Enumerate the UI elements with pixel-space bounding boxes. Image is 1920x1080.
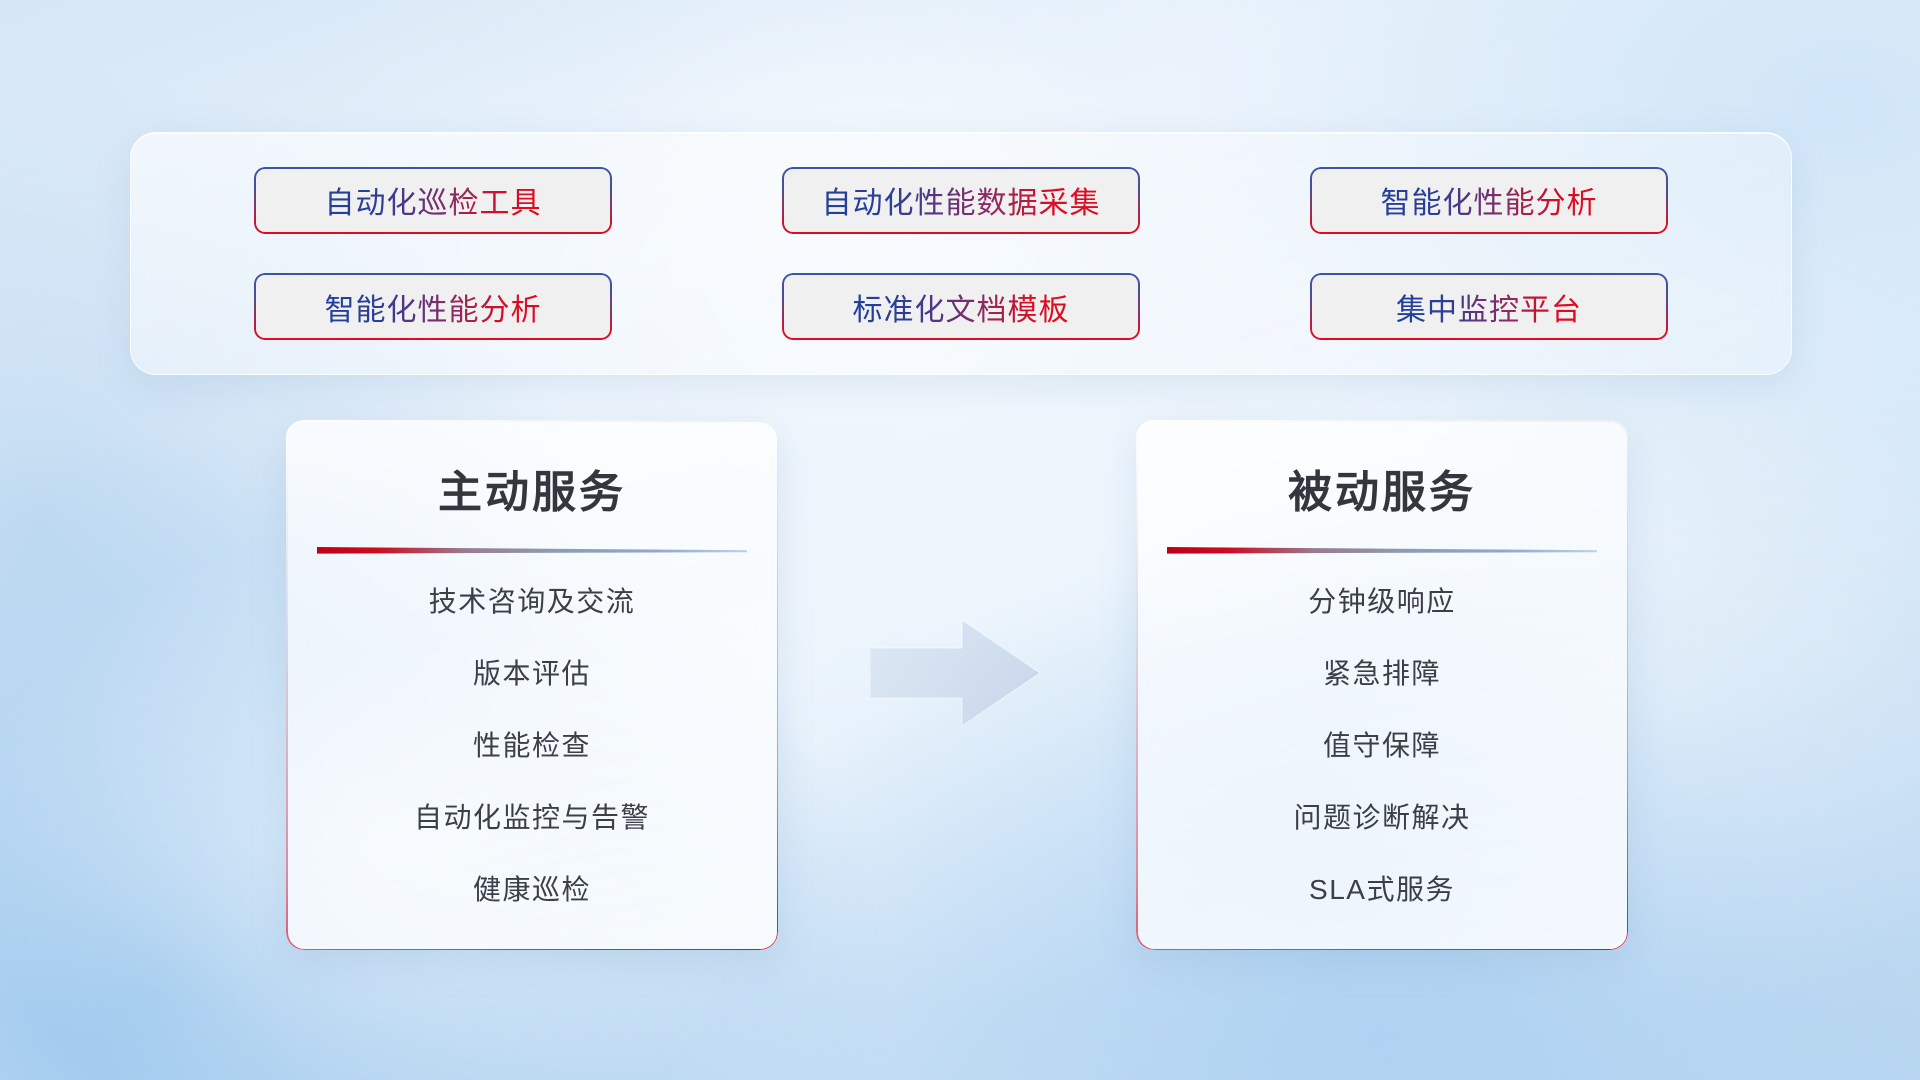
list-item: 健康巡检 [286, 876, 778, 904]
chip-label: 集中监控平台 [1396, 285, 1582, 329]
card-reactive-service: 被动服务 分钟级响应 紧急排障 值守保障 [1136, 420, 1628, 950]
card-title: 被动服务 [1136, 456, 1628, 520]
card-item-list: 技术咨询及交流 版本评估 性能检查 自动化监控与告警 健康巡检 [286, 588, 778, 904]
list-item: 分钟级响应 [1136, 588, 1628, 616]
list-item: 自动化监控与告警 [286, 804, 778, 832]
card-divider [1167, 546, 1597, 554]
chip-centralized-monitoring-platform[interactable]: 集中监控平台 [1310, 273, 1668, 340]
chip-label: 智能化性能分析 [1381, 178, 1598, 222]
capability-chips-panel: 自动化巡检工具 自动化性能数据采集 智能化性能分析 智能化性能分析 标准化文档模… [130, 132, 1792, 375]
chip-automation-inspection-tool[interactable]: 自动化巡检工具 [254, 167, 612, 234]
list-item: 紧急排障 [1136, 660, 1628, 688]
list-item: 版本评估 [286, 660, 778, 688]
list-item: 技术咨询及交流 [286, 588, 778, 616]
chip-label: 自动化巡检工具 [325, 178, 542, 222]
chip-intelligent-performance-analysis-2[interactable]: 智能化性能分析 [254, 273, 612, 340]
card-proactive-service: 主动服务 技术咨询及交流 版本评估 性能检查 [286, 420, 778, 950]
chip-label: 智能化性能分析 [325, 285, 542, 329]
chip-automation-performance-data-collection[interactable]: 自动化性能数据采集 [782, 167, 1140, 234]
list-item: SLA式服务 [1136, 876, 1628, 904]
chip-label: 标准化文档模板 [853, 285, 1070, 329]
list-item: 问题诊断解决 [1136, 804, 1628, 832]
list-item: 值守保障 [1136, 732, 1628, 760]
card-item-list: 分钟级响应 紧急排障 值守保障 问题诊断解决 SLA式服务 [1136, 588, 1628, 904]
list-item: 性能检查 [286, 732, 778, 760]
right-arrow-icon [870, 618, 1040, 728]
chip-intelligent-performance-analysis-1[interactable]: 智能化性能分析 [1310, 167, 1668, 234]
chip-label: 自动化性能数据采集 [822, 178, 1101, 222]
chip-standardized-document-template[interactable]: 标准化文档模板 [782, 273, 1140, 340]
card-divider [317, 546, 747, 554]
card-title: 主动服务 [286, 456, 778, 520]
